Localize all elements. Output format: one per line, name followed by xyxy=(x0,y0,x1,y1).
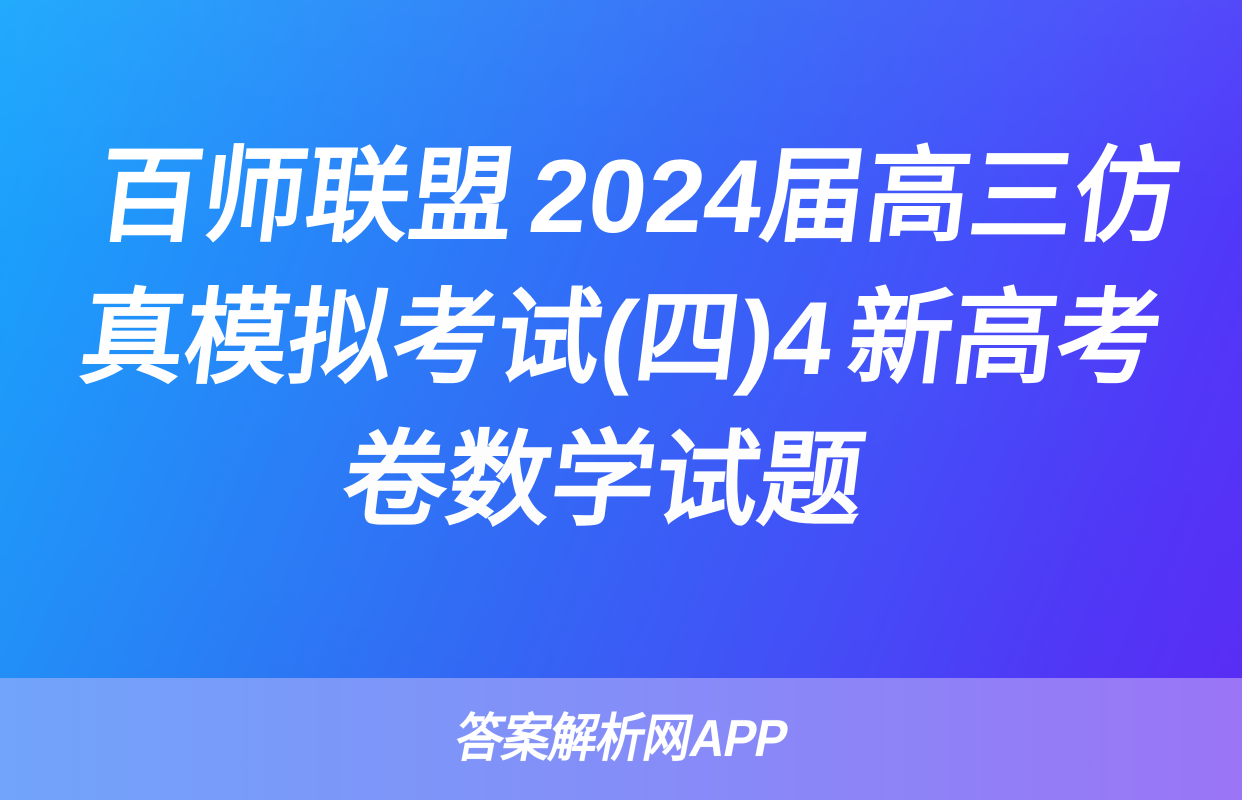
app-watermark-label: 答案解析网APP xyxy=(451,713,791,765)
exam-paper-banner: 百师联盟 2024届高三仿 真模拟考试(四)4 新高考 卷数学试题 答案解析网A… xyxy=(0,0,1242,800)
footer-watermark-band: 答案解析网APP xyxy=(0,678,1242,800)
hero-gradient-background: 百师联盟 2024届高三仿 真模拟考试(四)4 新高考 卷数学试题 xyxy=(0,0,1242,678)
title-line-2-left: 真模拟考试(四)4 xyxy=(72,268,841,410)
title-line-1-right: 2024届高三仿 xyxy=(522,126,1187,268)
title-line-2-right: 新高考 xyxy=(840,268,1169,410)
page-title: 百师联盟 2024届高三仿 真模拟考试(四)4 新高考 卷数学试题 xyxy=(55,126,1187,552)
title-line-1: 百师联盟 2024届高三仿 xyxy=(90,126,1187,268)
hero-content: 百师联盟 2024届高三仿 真模拟考试(四)4 新高考 卷数学试题 xyxy=(0,0,1242,678)
title-line-2: 真模拟考试(四)4 新高考 xyxy=(72,268,1169,410)
title-line-1-left: 百师联盟 xyxy=(90,126,523,268)
title-line-3: 卷数学试题 xyxy=(55,410,1152,552)
